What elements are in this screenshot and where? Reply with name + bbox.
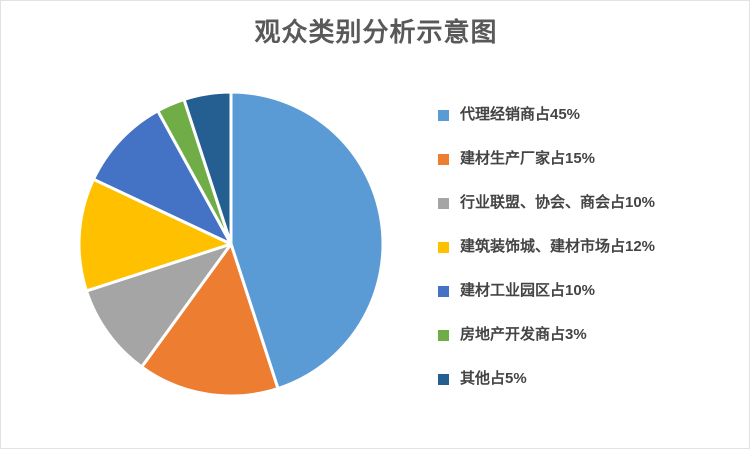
legend-color-swatch [438, 374, 449, 385]
legend-color-swatch [438, 154, 449, 165]
legend-color-swatch [438, 286, 449, 297]
legend-item-label: 建材生产厂家占15% [460, 150, 595, 168]
pie-chart-figure: 观众类别分析示意图 代理经销商占45%建材生产厂家占15%行业联盟、协会、商会占… [0, 0, 750, 449]
legend-item-label: 其他占5% [460, 370, 527, 388]
legend-color-swatch [438, 330, 449, 341]
legend-item-label: 建材工业园区占10% [460, 282, 595, 300]
legend-item-label: 行业联盟、协会、商会占10% [460, 194, 655, 212]
legend-item[interactable]: 房地产开发商占3% [438, 313, 738, 357]
legend-item[interactable]: 其他占5% [438, 357, 738, 401]
chart-legend: 代理经销商占45%建材生产厂家占15%行业联盟、协会、商会占10%建筑装饰城、建… [438, 93, 738, 401]
legend-color-swatch [438, 198, 449, 209]
pie-plot-area [71, 84, 391, 404]
legend-color-swatch [438, 110, 449, 121]
chart-title: 观众类别分析示意图 [1, 15, 751, 49]
pie-svg [71, 84, 391, 404]
legend-item[interactable]: 建材工业园区占10% [438, 269, 738, 313]
legend-item-label: 代理经销商占45% [460, 106, 580, 124]
legend-item[interactable]: 代理经销商占45% [438, 93, 738, 137]
legend-item-label: 建筑装饰城、建材市场占12% [460, 238, 655, 256]
legend-item[interactable]: 行业联盟、协会、商会占10% [438, 181, 738, 225]
legend-color-swatch [438, 242, 449, 253]
legend-item[interactable]: 建筑装饰城、建材市场占12% [438, 225, 738, 269]
legend-item[interactable]: 建材生产厂家占15% [438, 137, 738, 181]
legend-item-label: 房地产开发商占3% [460, 326, 587, 344]
